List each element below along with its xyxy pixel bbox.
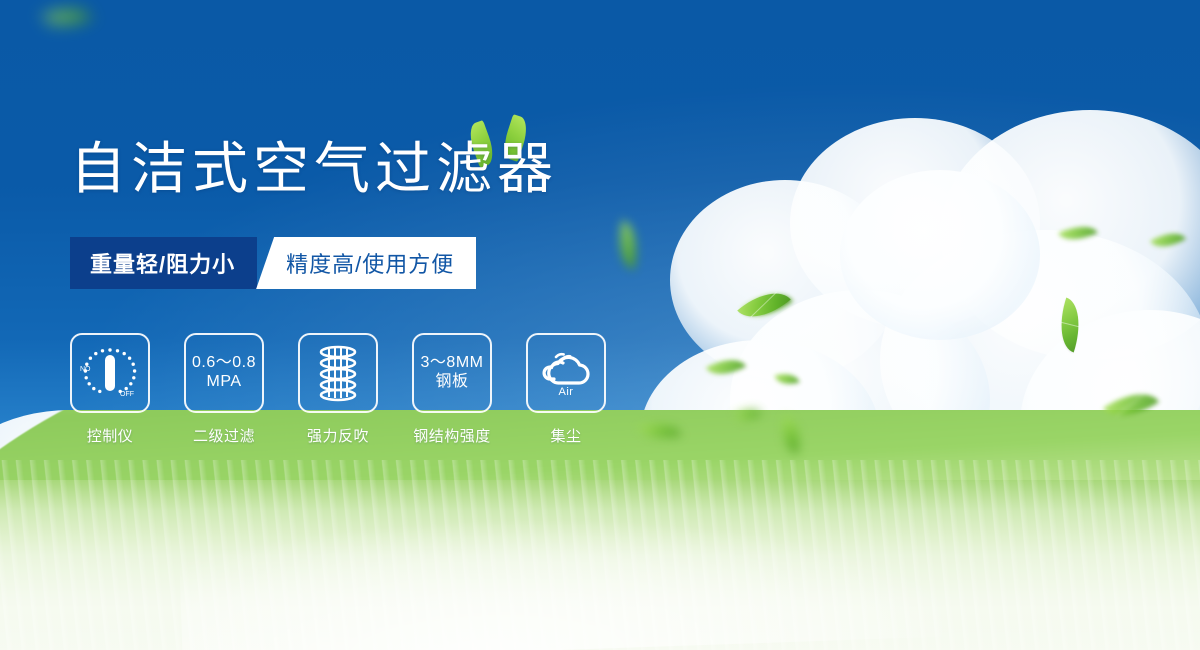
pressure-text-icon: 0.6～0.8 MPA [184, 333, 264, 413]
page-title: 自洁式空气过滤器 [70, 138, 558, 201]
steel-plate-text-icon: 3～8MM 钢板 [412, 333, 492, 413]
steel-material: 钢板 [421, 373, 484, 392]
tagline-right: 精度高/使用方便 [256, 237, 476, 289]
feature-label: 钢结构强度 [413, 425, 491, 446]
tagline-left: 重量轻/阻力小 [70, 237, 257, 289]
feature-item-steel-strength[interactable]: 3～8MM 钢板 钢结构强度 [412, 333, 492, 446]
dial-control-icon: NO OFF [70, 333, 150, 413]
feature-item-control-panel[interactable]: NO OFF 控制仪 [70, 333, 150, 446]
meadow-landscape [0, 410, 1200, 650]
steel-thickness: 3～8MM [421, 354, 484, 371]
feature-label: 集尘 [550, 425, 581, 446]
product-hero-banner: 自洁式空气过滤器 重量轻/阻力小 精度高/使用方便 [0, 0, 1200, 650]
feature-label: 强力反吹 [307, 425, 369, 446]
floating-leaf-icon [42, 0, 93, 36]
tagline-bar: 重量轻/阻力小 精度高/使用方便 [70, 237, 476, 289]
feature-item-dust-collection[interactable]: Air 集尘 [526, 333, 606, 446]
floating-leaf-icon [612, 220, 643, 270]
pressure-value: 0.6～0.8 [192, 354, 256, 371]
feature-list: NO OFF 控制仪 0.6～0.8 MPA 二级过滤 [70, 333, 606, 446]
feature-label: 控制仪 [87, 425, 134, 446]
feature-item-pulse-jet[interactable]: 强力反吹 [298, 333, 378, 446]
svg-text:NO: NO [80, 366, 91, 373]
svg-text:OFF: OFF [120, 391, 134, 398]
air-cloud-icon: Air [526, 333, 606, 413]
air-label: Air [559, 386, 574, 398]
pressure-unit: MPA [192, 373, 256, 392]
grass-path [178, 487, 943, 650]
filter-stack-icon [298, 333, 378, 413]
feature-item-two-stage-filter[interactable]: 0.6～0.8 MPA 二级过滤 [184, 333, 264, 446]
feature-label: 二级过滤 [193, 425, 255, 446]
